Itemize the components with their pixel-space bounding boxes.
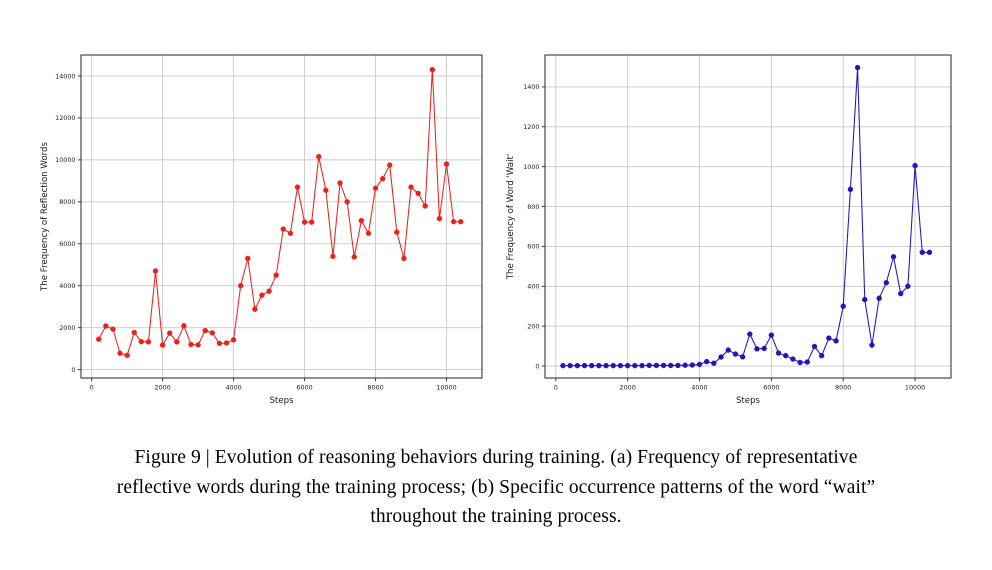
data-point <box>387 163 392 168</box>
figure-caption: Figure 9 | Evolution of reasoning behavi… <box>14 443 978 532</box>
data-point <box>697 362 702 367</box>
data-point <box>920 250 925 255</box>
data-point <box>798 360 803 365</box>
y-axis-title: The Frequency of Reflection Words <box>40 142 50 292</box>
x-tick-label: 8000 <box>367 384 383 392</box>
data-point <box>203 328 208 333</box>
series-line <box>99 70 461 356</box>
y-tick-label: 0 <box>535 362 539 370</box>
data-point <box>146 339 151 344</box>
data-point <box>444 162 449 167</box>
data-point <box>345 199 350 204</box>
data-point <box>575 363 580 368</box>
data-point <box>596 363 601 368</box>
y-tick-label: 2000 <box>59 324 75 332</box>
data-point <box>373 186 378 191</box>
data-point <box>125 353 130 358</box>
x-tick-label: 2000 <box>620 384 636 392</box>
data-point <box>769 333 774 338</box>
data-point <box>625 363 630 368</box>
data-point <box>640 363 645 368</box>
data-point <box>252 307 257 312</box>
data-point <box>245 256 250 261</box>
data-point <box>783 353 788 358</box>
data-point <box>352 254 357 259</box>
y-tick-label: 0 <box>71 366 75 374</box>
data-point <box>733 352 738 357</box>
data-point <box>740 354 745 359</box>
data-point <box>726 348 731 353</box>
data-point <box>762 346 767 351</box>
data-point <box>196 342 201 347</box>
y-tick-label: 800 <box>527 203 539 211</box>
y-tick-label: 1000 <box>523 163 539 171</box>
data-point <box>451 219 456 224</box>
data-point <box>366 231 371 236</box>
data-point <box>160 343 165 348</box>
data-point <box>819 353 824 358</box>
data-point <box>668 363 673 368</box>
data-point <box>238 283 243 288</box>
data-point <box>568 363 573 368</box>
data-point <box>675 363 680 368</box>
y-tick-label: 10000 <box>55 156 75 164</box>
x-tick-label: 4000 <box>225 384 241 392</box>
x-tick-label: 10000 <box>436 384 456 392</box>
data-point <box>174 339 179 344</box>
data-point <box>647 363 652 368</box>
data-point <box>790 357 795 362</box>
data-point <box>805 360 810 365</box>
x-tick-label: 6000 <box>296 384 312 392</box>
caption-line-3: throughout the training process. <box>14 502 978 532</box>
data-point <box>458 219 463 224</box>
data-point <box>359 218 364 223</box>
data-point <box>380 176 385 181</box>
y-tick-label: 600 <box>527 243 539 251</box>
data-point <box>288 231 293 236</box>
plot-frame <box>545 55 951 378</box>
data-point <box>582 363 587 368</box>
data-point <box>719 355 724 360</box>
data-point <box>118 351 123 356</box>
data-point <box>409 185 414 190</box>
y-tick-label: 14000 <box>55 72 75 80</box>
x-tick-label: 10000 <box>905 384 925 392</box>
data-point <box>316 154 321 159</box>
x-axis-title: Steps <box>736 396 761 406</box>
caption-line-2: reflective words during the training pro… <box>14 473 978 503</box>
figure-root: 0200040006000800010000120001400002000400… <box>0 0 992 570</box>
y-tick-label: 1200 <box>523 123 539 131</box>
data-point <box>323 188 328 193</box>
data-point <box>338 180 343 185</box>
data-point <box>110 327 115 332</box>
y-tick-label: 8000 <box>59 198 75 206</box>
data-point <box>611 363 616 368</box>
caption-line-1: Figure 9 | Evolution of reasoning behavi… <box>14 443 978 473</box>
data-point <box>862 297 867 302</box>
data-point <box>423 204 428 209</box>
chart-panel-a: 0200040006000800010000120001400002000400… <box>20 30 490 420</box>
data-point <box>167 331 172 336</box>
data-point <box>812 344 817 349</box>
data-point <box>274 273 279 278</box>
reflection-words-chart: 0200040006000800010000120001400002000400… <box>20 30 490 420</box>
data-point <box>560 363 565 368</box>
data-point <box>416 191 421 196</box>
data-point <box>430 67 435 72</box>
data-point <box>267 289 272 294</box>
data-point <box>437 216 442 221</box>
data-point <box>632 363 637 368</box>
data-point <box>661 363 666 368</box>
data-point <box>189 342 194 347</box>
y-tick-label: 12000 <box>55 114 75 122</box>
data-point <box>877 296 882 301</box>
data-point <box>96 337 101 342</box>
data-point <box>302 220 307 225</box>
y-tick-label: 1400 <box>523 83 539 91</box>
data-point <box>217 341 222 346</box>
x-tick-label: 0 <box>554 384 558 392</box>
data-point <box>690 363 695 368</box>
y-tick-label: 200 <box>527 322 539 330</box>
data-point <box>704 359 709 364</box>
y-tick-label: 6000 <box>59 240 75 248</box>
data-point <box>309 220 314 225</box>
data-point <box>776 351 781 356</box>
data-point <box>841 304 846 309</box>
data-point <box>330 254 335 259</box>
data-point <box>153 269 158 274</box>
x-tick-label: 4000 <box>691 384 707 392</box>
data-point <box>589 363 594 368</box>
data-point <box>747 332 752 337</box>
data-point <box>401 256 406 261</box>
x-tick-label: 0 <box>90 384 94 392</box>
x-tick-label: 8000 <box>835 384 851 392</box>
data-point <box>224 340 229 345</box>
plot-frame <box>81 55 482 378</box>
data-point <box>898 291 903 296</box>
data-point <box>683 363 688 368</box>
data-point <box>139 339 144 344</box>
data-point <box>210 330 215 335</box>
data-point <box>103 323 108 328</box>
data-point <box>834 338 839 343</box>
data-point <box>869 343 874 348</box>
data-point <box>754 346 759 351</box>
wait-word-chart: 0200400600800100012001400020004000600080… <box>495 30 975 420</box>
data-point <box>281 227 286 232</box>
data-point <box>181 323 186 328</box>
series-line <box>563 68 929 366</box>
data-point <box>905 284 910 289</box>
data-point <box>231 337 236 342</box>
y-tick-label: 400 <box>527 283 539 291</box>
chart-panel-b: 0200400600800100012001400020004000600080… <box>495 30 975 420</box>
x-tick-label: 2000 <box>154 384 170 392</box>
data-point <box>891 254 896 259</box>
data-point <box>913 163 918 168</box>
data-point <box>295 185 300 190</box>
data-point <box>394 230 399 235</box>
x-tick-label: 6000 <box>763 384 779 392</box>
data-point <box>884 280 889 285</box>
data-point <box>618 363 623 368</box>
data-point <box>654 363 659 368</box>
data-point <box>826 336 831 341</box>
data-point <box>855 65 860 70</box>
data-point <box>848 187 853 192</box>
data-point <box>711 361 716 366</box>
data-point <box>604 363 609 368</box>
data-point <box>927 250 932 255</box>
x-axis-title: Steps <box>269 396 294 406</box>
y-axis-title: The Frequency of Word 'Wait' <box>506 154 516 280</box>
data-point <box>259 293 264 298</box>
y-tick-label: 4000 <box>59 282 75 290</box>
data-point <box>132 330 137 335</box>
